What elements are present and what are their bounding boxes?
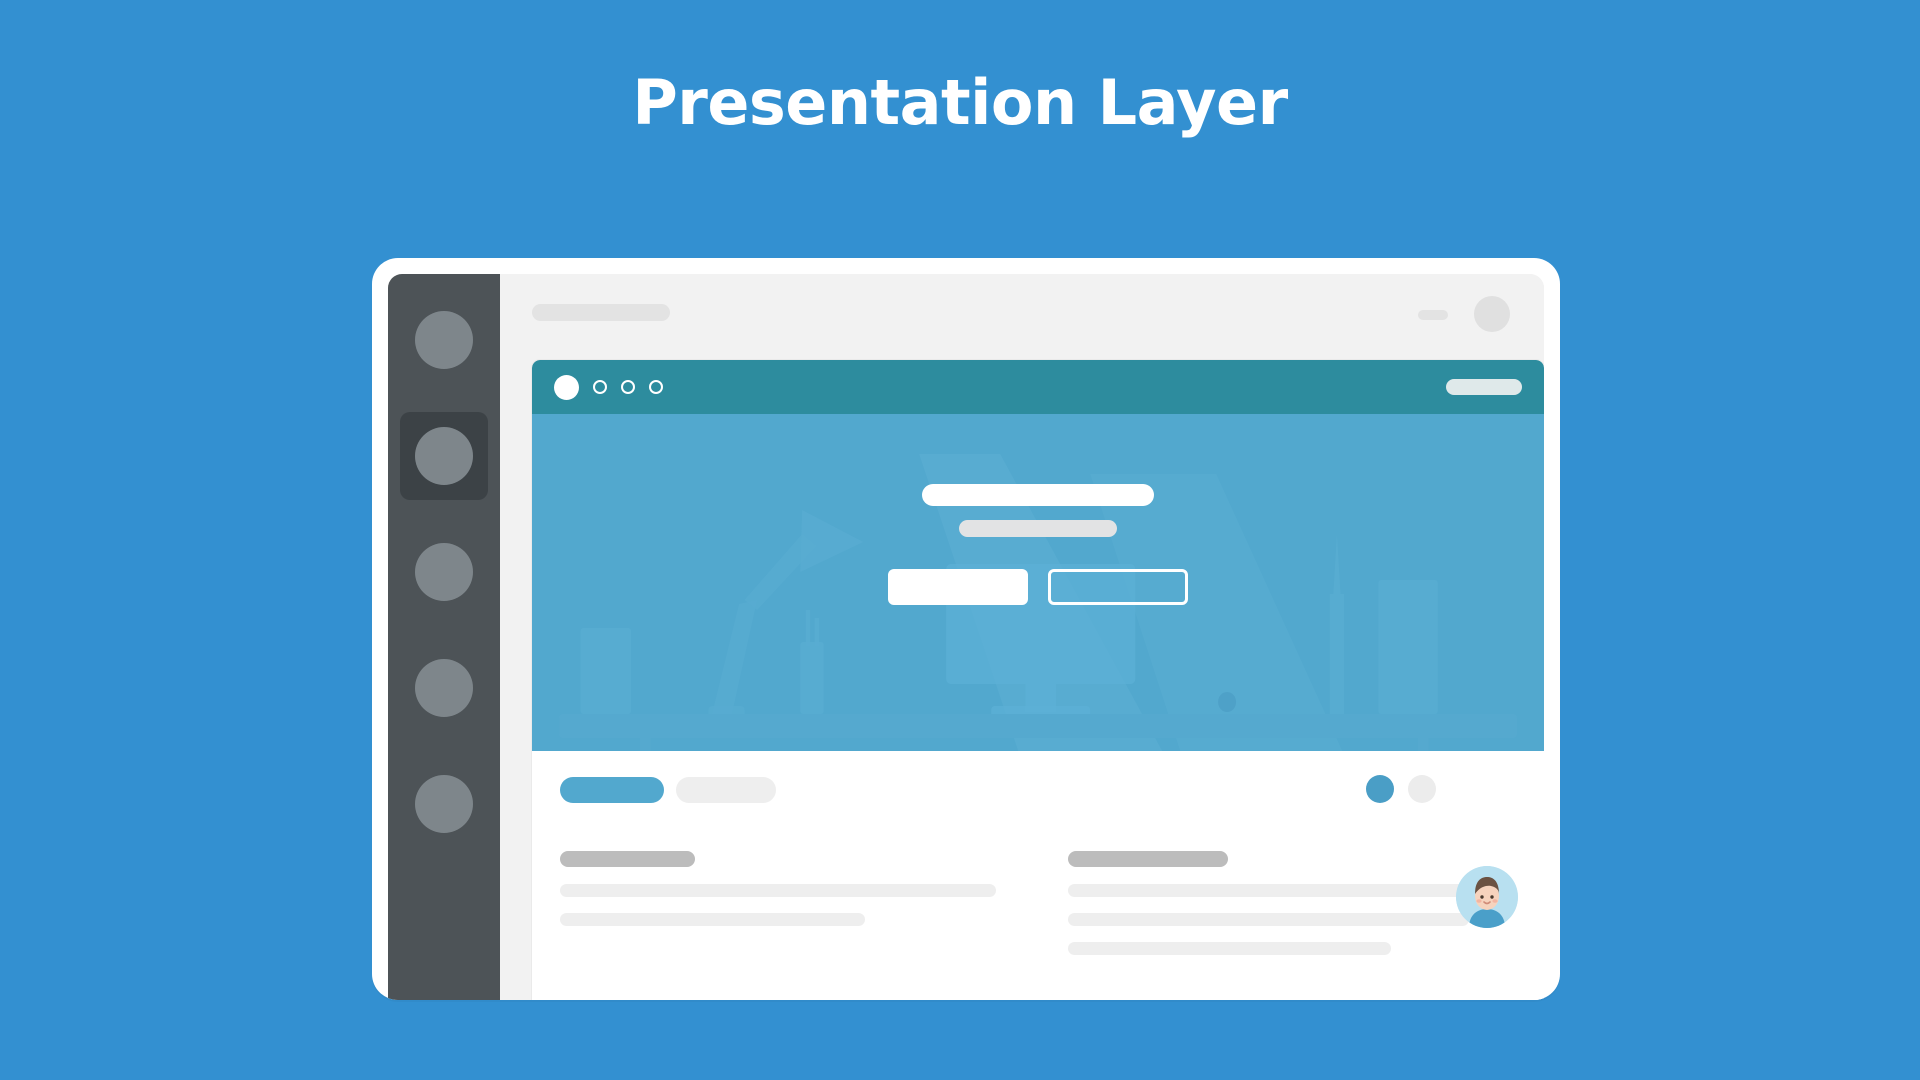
user-avatar-icon[interactable] xyxy=(1456,866,1518,928)
hero-headline-placeholder xyxy=(922,484,1154,506)
circle-icon xyxy=(415,427,473,485)
url-bar-placeholder[interactable] xyxy=(1446,379,1522,395)
hero-secondary-button[interactable] xyxy=(1048,569,1188,605)
hero-section xyxy=(532,414,1544,751)
circle-outline-icon[interactable] xyxy=(649,380,663,394)
sidebar-item-3[interactable] xyxy=(400,528,488,616)
content-line-placeholder xyxy=(1068,942,1391,955)
sidebar-item-4[interactable] xyxy=(400,644,488,732)
content-line-placeholder xyxy=(560,884,996,897)
tab-inactive[interactable] xyxy=(676,777,776,803)
content-line-placeholder xyxy=(1068,884,1469,897)
browser-chrome-bar xyxy=(532,360,1544,414)
content-column-left xyxy=(560,851,996,971)
content-columns xyxy=(560,851,1504,971)
page-title: Presentation Layer xyxy=(0,72,1920,134)
browser-dots xyxy=(554,375,663,400)
hero-primary-button[interactable] xyxy=(888,569,1028,605)
minimize-icon[interactable] xyxy=(1418,310,1448,320)
sidebar-item-5[interactable] xyxy=(400,760,488,848)
hero-buttons xyxy=(888,569,1188,605)
content-title-placeholder xyxy=(560,851,695,867)
pagination-dot-inactive[interactable] xyxy=(1408,775,1436,803)
pagination-dot-active[interactable] xyxy=(1366,775,1394,803)
circle-outline-icon[interactable] xyxy=(593,380,607,394)
content-line-placeholder xyxy=(1068,913,1469,926)
circle-icon xyxy=(415,775,473,833)
tab-bar xyxy=(560,777,1504,803)
app-header-title-placeholder xyxy=(532,304,670,321)
app-panel xyxy=(500,274,1544,1000)
user-avatar-illustration xyxy=(1456,866,1518,928)
device-screen xyxy=(388,274,1544,1000)
sidebar-item-1[interactable] xyxy=(400,296,488,384)
content-line-placeholder xyxy=(560,913,865,926)
circle-icon xyxy=(415,659,473,717)
sidebar-item-2-active[interactable] xyxy=(400,412,488,500)
circle-icon xyxy=(415,311,473,369)
hero-content xyxy=(888,484,1188,605)
circle-filled-icon[interactable] xyxy=(554,375,579,400)
circle-icon xyxy=(415,543,473,601)
content-area xyxy=(532,751,1544,1000)
sidebar xyxy=(388,274,500,1000)
browser-window xyxy=(532,360,1544,1000)
tab-active[interactable] xyxy=(560,777,664,803)
hero-subheadline-placeholder xyxy=(959,520,1117,537)
device-frame xyxy=(372,258,1560,1000)
content-title-placeholder xyxy=(1068,851,1228,867)
circle-outline-icon[interactable] xyxy=(621,380,635,394)
content-column-right xyxy=(1068,851,1504,971)
pagination xyxy=(1366,775,1436,803)
app-header xyxy=(500,274,1544,348)
avatar-circle-icon[interactable] xyxy=(1474,296,1510,332)
